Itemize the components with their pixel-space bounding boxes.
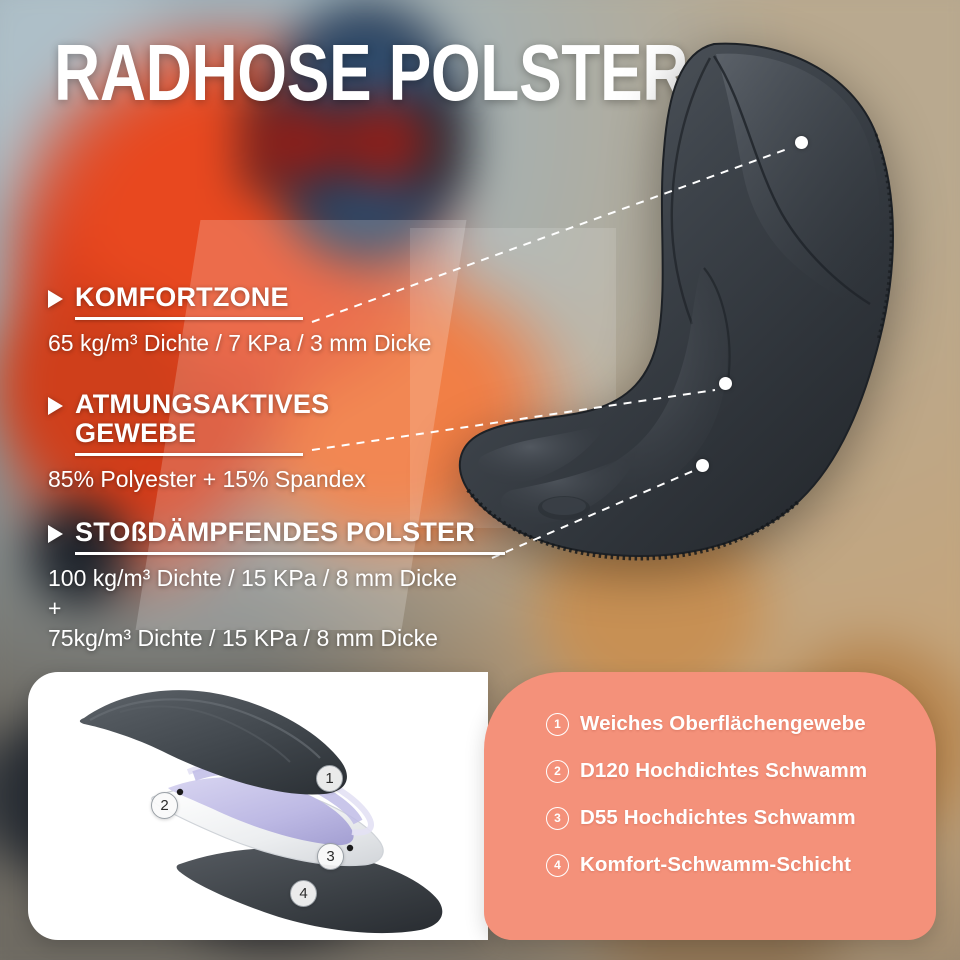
play-triangle-icon: [48, 397, 63, 415]
exploded-marker-dot-2: [177, 789, 183, 795]
legend-number-1: 1: [546, 713, 569, 736]
legend-label-3: D55 Hochdichtes Schwamm: [580, 806, 856, 830]
feature-1-underline: [75, 317, 303, 320]
feature-stossdaempfendes-polster: STOßDÄMPFENDES POLSTER 100 kg/m³ Dichte …: [48, 518, 505, 654]
feature-1-spec: 65 kg/m³ Dichte / 7 KPa / 3 mm Dicke: [48, 328, 431, 358]
exploded-marker-2: 2: [151, 792, 178, 819]
feature-1-spec-line: 65 kg/m³ Dichte / 7 KPa / 3 mm Dicke: [48, 330, 431, 356]
exploded-marker-3: 3: [317, 843, 344, 870]
feature-2-spec-line: 85% Polyester + 15% Spandex: [48, 466, 366, 492]
legend-label-4: Komfort-Schwamm-Schicht: [580, 853, 851, 877]
feature-3-title: STOßDÄMPFENDES POLSTER: [75, 518, 475, 547]
exploded-marker-dot-3: [347, 845, 353, 851]
legend-item-3: 3 D55 Hochdichtes Schwamm: [546, 806, 936, 830]
legend-label-1: Weiches Oberflächengewebe: [580, 712, 866, 736]
feature-1-title: KOMFORTZONE: [75, 283, 289, 312]
brand-logo-emboss-inner: [542, 497, 586, 515]
feature-3-spec-line-3: 75kg/m³ Dichte / 15 KPa / 8 mm Dicke: [48, 623, 505, 653]
infographic-canvas: RADHOSE POLSTER: [0, 0, 960, 960]
feature-2-title-line2: GEWEBE: [75, 418, 196, 448]
exploded-view-panel: [28, 672, 488, 940]
feature-3-spec: 100 kg/m³ Dichte / 15 KPa / 8 mm Dicke +…: [48, 563, 505, 654]
exploded-marker-4: 4: [290, 880, 317, 907]
legend-item-1: 1 Weiches Oberflächengewebe: [546, 712, 936, 736]
feature-2-title-line1: ATMUNGSAKTIVES: [75, 389, 329, 419]
legend-panel: 1 Weiches Oberflächengewebe 2 D120 Hochd…: [484, 672, 936, 940]
feature-3-heading: STOßDÄMPFENDES POLSTER: [48, 518, 505, 547]
callout-dot-3: [696, 459, 709, 472]
legend-number-4: 4: [546, 854, 569, 877]
feature-2-heading: ATMUNGSAKTIVES GEWEBE: [48, 390, 366, 448]
callout-dot-1: [795, 136, 808, 149]
feature-1-heading: KOMFORTZONE: [48, 283, 431, 312]
hero-product-image: [452, 38, 922, 598]
feature-2-title: ATMUNGSAKTIVES GEWEBE: [75, 390, 329, 448]
legend-number-2: 2: [546, 760, 569, 783]
feature-2-spec: 85% Polyester + 15% Spandex: [48, 464, 366, 494]
play-triangle-icon: [48, 290, 63, 308]
callout-dot-2: [719, 377, 732, 390]
play-triangle-icon: [48, 525, 63, 543]
feature-3-spec-line-2: +: [48, 593, 505, 623]
feature-3-spec-line-1: 100 kg/m³ Dichte / 15 KPa / 8 mm Dicke: [48, 563, 505, 593]
legend-number-3: 3: [546, 807, 569, 830]
legend-item-2: 2 D120 Hochdichtes Schwamm: [546, 759, 936, 783]
feature-2-underline: [75, 453, 303, 456]
legend-label-2: D120 Hochdichtes Schwamm: [580, 759, 867, 783]
legend-item-4: 4 Komfort-Schwamm-Schicht: [546, 853, 936, 877]
feature-3-underline: [75, 552, 505, 555]
exploded-marker-1: 1: [316, 765, 343, 792]
feature-atmungsaktives-gewebe: ATMUNGSAKTIVES GEWEBE 85% Polyester + 15…: [48, 390, 366, 494]
feature-komfortzone: KOMFORTZONE 65 kg/m³ Dichte / 7 KPa / 3 …: [48, 283, 431, 358]
